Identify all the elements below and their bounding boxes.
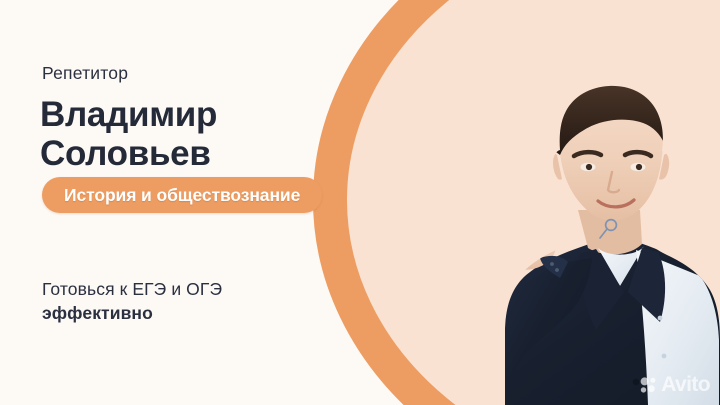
headline-block: Репетитор Владимир Соловьев История и об… [42,0,372,405]
avito-watermark-label: Avito [661,373,710,397]
role-eyebrow: Репетитор [42,63,128,84]
subject-badge-label: История и обществознание [64,185,300,206]
shirt-button-1 [658,316,663,321]
blazer-button [633,379,639,385]
page-title: Владимир Соловьев [40,95,217,173]
pupil-right [636,164,642,170]
subject-badge: История и обществознание [42,177,322,213]
cuff-button-2 [555,268,559,272]
cta-line-2: эффективно [42,301,222,325]
tutor-ad-banner: Репетитор Владимир Соловьев История и об… [0,0,720,405]
shirt-button-2 [662,354,667,359]
cta-line-1: Готовься к ЕГЭ и ОГЭ [42,277,222,301]
pupil-left [586,164,592,170]
avito-watermark: Avito [640,373,710,397]
cta-block: Готовься к ЕГЭ и ОГЭ эффективно [42,277,222,325]
cuff-button-1 [550,262,554,266]
avito-dots-icon [640,377,657,394]
